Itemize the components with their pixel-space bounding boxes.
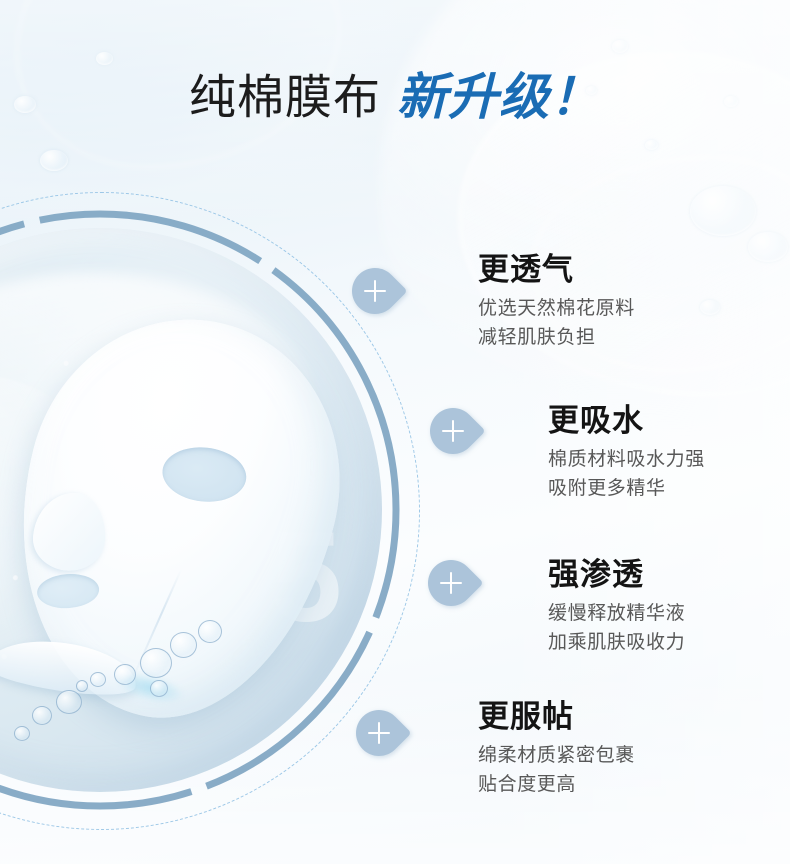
plus-pin-icon[interactable] <box>418 550 483 615</box>
plus-glyph <box>364 280 386 302</box>
feature-desc-line2: 加乘肌肤吸收力 <box>548 630 685 657</box>
feature-title: 强渗透 <box>548 558 685 592</box>
droplet-icon <box>96 52 113 65</box>
feature-desc-line2: 减轻肌肤负担 <box>478 325 635 352</box>
plus-glyph <box>442 420 464 442</box>
feature-title: 更吸水 <box>548 404 705 438</box>
feature-desc-line1: 绵柔材质紧密包裹 <box>478 743 635 770</box>
droplet-icon <box>612 40 628 53</box>
feature-desc-line1: 棉质材料吸水力强 <box>548 447 705 474</box>
feature-title: 更透气 <box>478 253 635 287</box>
droplet-icon <box>40 150 68 171</box>
feature-desc-line2: 吸附更多精华 <box>548 476 705 503</box>
segmented-accent-ring <box>0 206 404 814</box>
plus-glyph <box>368 722 390 744</box>
feature-desc-line2: 贴合度更高 <box>478 772 635 799</box>
droplet-icon <box>700 300 720 315</box>
headline: 纯棉膜布新升级！ <box>0 72 790 122</box>
plus-pin-icon[interactable] <box>420 398 485 463</box>
water-highlight-a <box>379 0 790 439</box>
plus-glyph <box>440 572 462 594</box>
feature-desc-line1: 优选天然棉花原料 <box>478 296 635 323</box>
droplet-icon <box>690 186 756 236</box>
headline-main-text: 纯棉膜布 <box>189 71 381 124</box>
product-feature-poster: 纯棉膜布新升级！ 5 <box>0 0 790 864</box>
product-circle-graphic: 5 <box>0 228 382 792</box>
feature-desc-line1: 缓慢释放精华液 <box>548 601 685 628</box>
feature-title: 更服帖 <box>478 700 635 734</box>
headline-accent-text: 新升级！ <box>397 69 601 125</box>
droplet-icon <box>748 232 788 262</box>
droplet-icon <box>645 140 658 150</box>
